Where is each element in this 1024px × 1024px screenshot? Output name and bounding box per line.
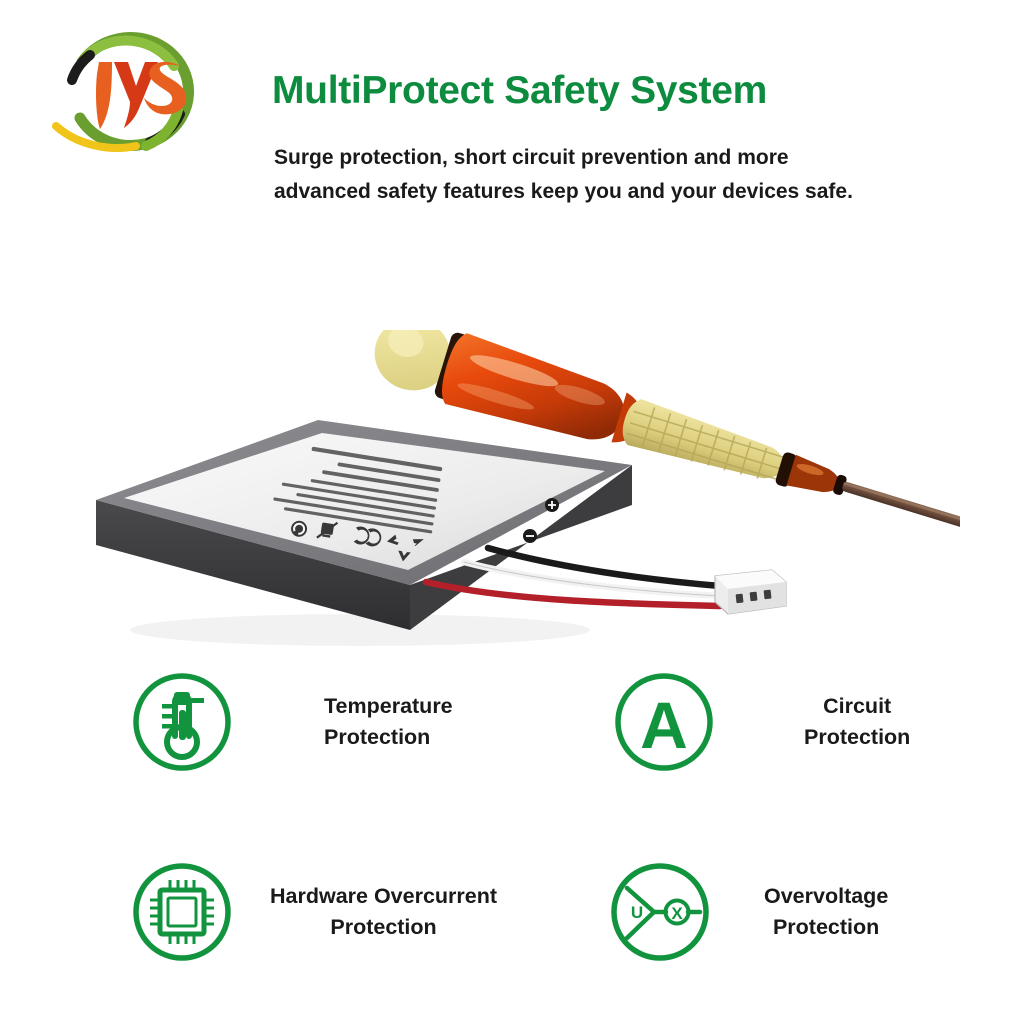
thermometer-icon — [130, 670, 234, 774]
jst-connector — [715, 570, 786, 614]
product-infographic: MultiProtect Safety System Surge protect… — [0, 0, 1024, 1024]
overvoltage-symbol-icon: U X — [608, 860, 712, 964]
ampere-a-icon: A — [612, 670, 716, 774]
page-subtitle: Surge protection, short circuit preventi… — [274, 141, 874, 209]
svg-text:A: A — [640, 688, 688, 762]
feature-hardware-overcurrent-protection: Hardware Overcurrent Protection — [130, 860, 497, 964]
cpu-chip-icon — [130, 860, 234, 964]
feature-temperature-protection: Temperature Protection — [130, 670, 453, 774]
feature-label: Circuit Protection — [804, 691, 910, 752]
feature-list: Temperature Protection A Circuit Protect… — [0, 662, 1024, 1002]
feature-label: Overvoltage Protection — [764, 881, 888, 942]
page-title: MultiProtect Safety System — [272, 70, 910, 113]
product-photo — [60, 330, 960, 650]
svg-text:U: U — [631, 903, 643, 922]
feature-label: Temperature Protection — [324, 691, 453, 752]
jys-logo — [50, 22, 210, 172]
screwdriver-handle — [436, 330, 634, 455]
wire-black — [488, 548, 720, 586]
header-block: MultiProtect Safety System Surge protect… — [270, 70, 910, 209]
svg-text:X: X — [671, 904, 683, 923]
feature-label: Hardware Overcurrent Protection — [270, 881, 497, 942]
feature-overvoltage-protection: U X Overvoltage Protection — [608, 860, 888, 964]
feature-circuit-protection: A Circuit Protection — [612, 670, 910, 774]
